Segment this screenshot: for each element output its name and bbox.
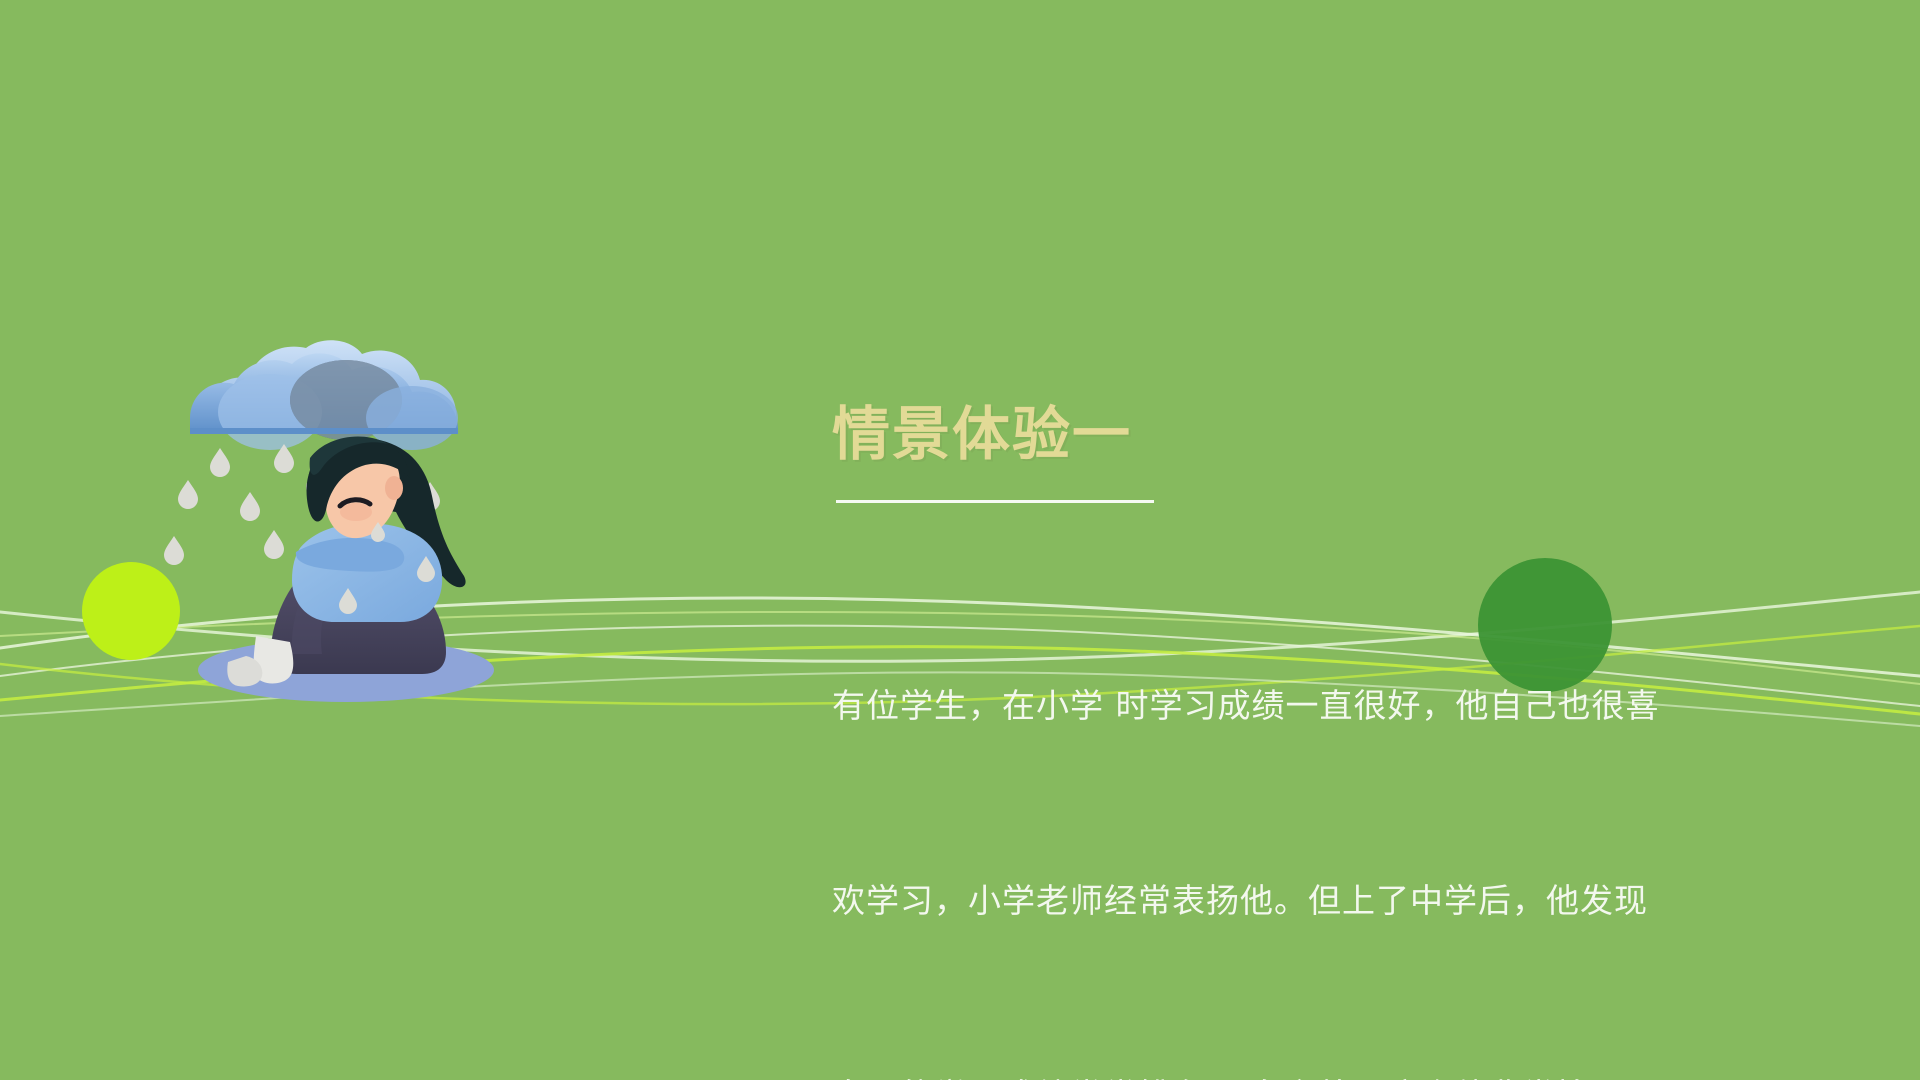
sad-person-figure	[227, 436, 465, 686]
body-line: 自己的学习成绩常常排在20名之外，这令他非常惶恐，	[832, 1063, 1732, 1080]
body-line: 欢学习，小学老师经常表扬他。但上了中学后，他发现	[832, 868, 1732, 933]
sad-student-illustration	[150, 340, 570, 740]
body-paragraph: 有位学生，在小学 时学习成绩一直很好，他自己也很喜 欢学习，小学老师经常表扬他。…	[832, 543, 1732, 1080]
text-column: 情景体验一 有位学生，在小学 时学习成绩一直很好，他自己也很喜 欢学习，小学老师…	[832, 400, 1732, 1080]
title-divider	[836, 500, 1154, 503]
slide-canvas: 情景体验一 有位学生，在小学 时学习成绩一直很好，他自己也很喜 欢学习，小学老师…	[0, 0, 1920, 1080]
page-title: 情景体验一	[832, 400, 1732, 470]
body-line: 有位学生，在小学 时学习成绩一直很好，他自己也很喜	[832, 673, 1732, 738]
rain-cloud	[190, 340, 458, 450]
